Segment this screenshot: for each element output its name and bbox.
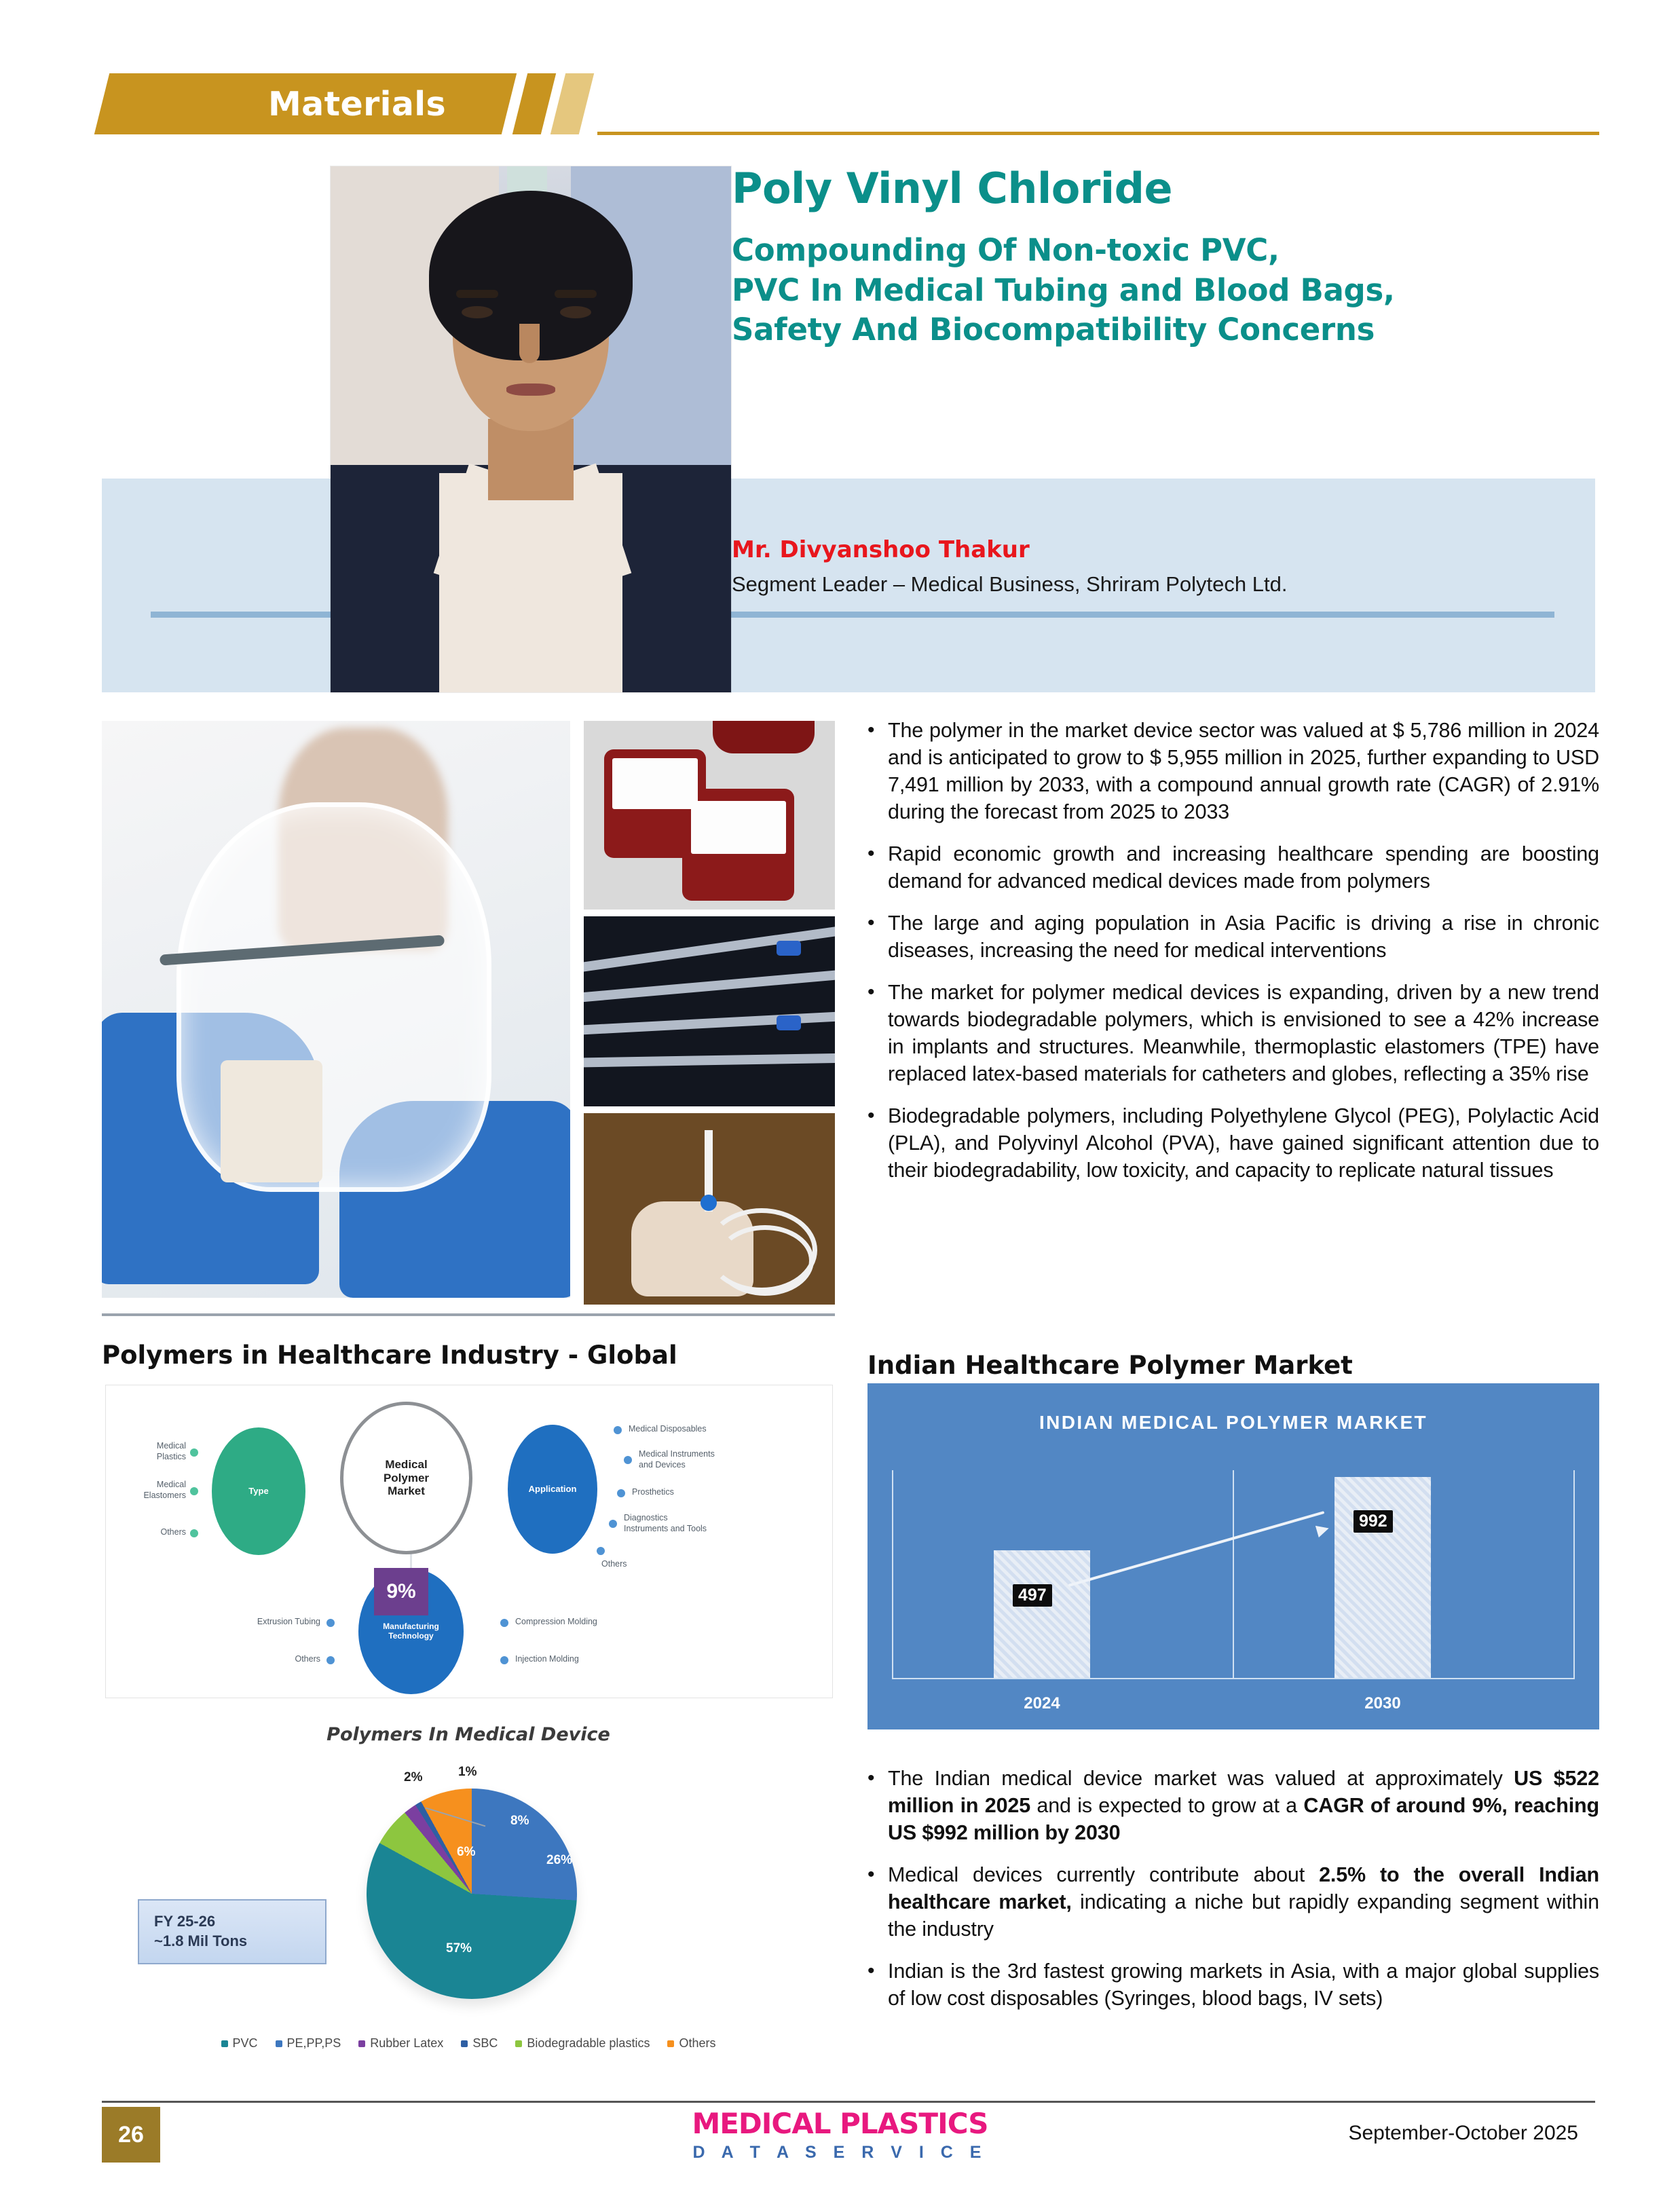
diagram-leaf-application-others: Others [601, 1559, 627, 1570]
pie-annotation-fy: FY 25-26 [154, 1912, 325, 1932]
bullet-text: The large and aging population in Asia P… [888, 910, 1599, 964]
legend-label-pe-pp-ps: PE,PP,PS [287, 2036, 341, 2051]
pie-slice-label-pe-pp-ps: 26% [546, 1853, 572, 1868]
legend-label-biodegradable-plastics: Biodegradable plastics [527, 2036, 650, 2051]
author-role: Segment Leader – Medical Business, Shrir… [732, 572, 1287, 597]
kicker-label: Materials [268, 85, 446, 124]
legend-item-pe-pp-ps: PE,PP,PS [276, 2036, 341, 2051]
header-rule [597, 132, 1599, 135]
bullet-dot-icon: • [867, 1102, 888, 1184]
iv-set-photo [584, 1113, 835, 1305]
diagram-leaf-prosthetics: Prosthetics [632, 1487, 674, 1498]
author-portrait-photo [331, 166, 731, 692]
photo-collage [102, 713, 835, 1303]
bullet-text: Rapid economic growth and increasing hea… [888, 840, 1599, 895]
bullet-text: The polymer in the market device sector … [888, 717, 1599, 825]
bullet-dot-icon: • [867, 840, 888, 895]
indian-medical-polymer-market-bar-chart: INDIAN MEDICAL POLYMER MARKET 497 992 20… [867, 1383, 1599, 1729]
bullet-text: The Indian medical device market was val… [888, 1765, 1599, 1846]
bar-category-2024: 2024 [994, 1694, 1090, 1713]
diagram-node-center: Medical Polymer Market [340, 1402, 472, 1554]
title-block: Poly Vinyl Chloride Compounding Of Non-t… [732, 166, 1607, 350]
bullet-dot-icon: • [867, 1861, 888, 1943]
list-item: • Medical devices currently contribute a… [867, 1861, 1599, 1943]
diagram-leaf-medical-instruments-and-devices: Medical Instruments and Devices [639, 1449, 715, 1470]
bar-value-2024: 497 [1013, 1584, 1052, 1607]
masthead-subtitle: D A T A S E R V I C E [0, 2143, 1680, 2163]
diagram-leaf-medical-plastics: Medical Plastics [125, 1441, 186, 1462]
bullet-text: Indian is the 3rd fastest growing market… [888, 1958, 1599, 2012]
oxygen-mask-photo [102, 721, 570, 1298]
diagram-leaf-diagnostics-instruments-and-tools: Diagnostics Instruments and Tools [624, 1513, 707, 1534]
legend-swatch-pvc [221, 2040, 228, 2047]
bar-axis-right [1573, 1470, 1575, 1678]
bullet-dot-icon: • [867, 979, 888, 1087]
diagram-leaf-injection-molding: Injection Molding [515, 1654, 579, 1665]
article-subtitle: Compounding Of Non-toxic PVC, PVC In Med… [732, 231, 1607, 350]
legend-label-sbc: SBC [472, 2036, 498, 2051]
legend-label-others: Others [679, 2036, 715, 2051]
medical-tubing-photo [584, 916, 835, 1106]
legend-item-biodegradable-plastics: Biodegradable plastics [515, 2036, 650, 2051]
footer-divider [102, 2101, 1595, 2103]
diagram-leaf-medical-disposables: Medical Disposables [629, 1424, 707, 1435]
diagram-leaf-type-others: Others [138, 1527, 186, 1538]
bullet-dot-icon: • [867, 910, 888, 964]
intro-bullet-list: • The polymer in the market device secto… [867, 717, 1599, 1199]
slash-decoration-1 [512, 73, 556, 134]
bar-axis-left [892, 1470, 893, 1678]
collage-divider [102, 1313, 835, 1316]
bar-category-2030: 2030 [1334, 1694, 1431, 1713]
diagram-node-application: Application [508, 1425, 597, 1554]
legend-swatch-sbc [461, 2040, 468, 2047]
author-name: Mr. Divyanshoo Thakur [732, 536, 1030, 563]
diagram-leaf-extrusion-tubing: Extrusion Tubing [213, 1617, 320, 1628]
pie-annotation-volume: ~1.8 Mil Tons [154, 1932, 325, 1951]
list-item: • Indian is the 3rd fastest growing mark… [867, 1958, 1599, 2012]
bar-value-2030: 992 [1354, 1510, 1393, 1533]
list-item: • The market for polymer medical devices… [867, 979, 1599, 1087]
legend-label-rubber-latex: Rubber Latex [370, 2036, 443, 2051]
bullet-text: The market for polymer medical devices i… [888, 979, 1599, 1087]
pie-chart-title: Polymers In Medical Device [105, 1724, 832, 1745]
pie-annotation-box: FY 25-26 ~1.8 Mil Tons [138, 1899, 326, 1964]
legend-swatch-pe-pp-ps [276, 2040, 282, 2047]
diagram-leaf-compression-molding: Compression Molding [515, 1617, 597, 1628]
pie-slice-label-pvc: 57% [446, 1941, 472, 1956]
bullet-text: Medical devices currently contribute abo… [888, 1861, 1599, 1943]
bullet-dot-icon: • [867, 717, 888, 825]
india-section-heading: Indian Healthcare Polymer Market [867, 1351, 1353, 1380]
bullet-text: Biodegradable polymers, including Polyet… [888, 1102, 1599, 1184]
diagram-node-type: Type [212, 1427, 305, 1555]
pie-slice-label-sbc: 1% [458, 1765, 477, 1780]
legend-item-pvc: PVC [221, 2036, 258, 2051]
legend-label-pvc: PVC [233, 2036, 258, 2051]
blood-bags-photo [584, 721, 835, 910]
global-section-heading: Polymers in Healthcare Industry - Global [102, 1341, 677, 1370]
bar-2030 [1334, 1477, 1431, 1678]
legend-swatch-others [667, 2040, 674, 2047]
pie-chart-graphic [367, 1789, 577, 1999]
cagr-badge: 9% [374, 1568, 428, 1615]
slash-decoration-2 [550, 73, 594, 134]
pie-slice-label-biodegradable: 6% [457, 1845, 475, 1860]
bullet-dot-icon: • [867, 1958, 888, 2012]
diagram-leaf-manufacturing-others: Others [267, 1654, 320, 1665]
list-item: • Rapid economic growth and increasing h… [867, 840, 1599, 895]
bar-chart-title: INDIAN MEDICAL POLYMER MARKET [867, 1412, 1599, 1434]
legend-swatch-rubber-latex [358, 2040, 365, 2047]
pie-slice-label-rubber-latex: 2% [404, 1770, 422, 1785]
legend-item-rubber-latex: Rubber Latex [358, 2036, 443, 2051]
list-item: • The polymer in the market device secto… [867, 717, 1599, 825]
pie-slice-label-others: 8% [510, 1814, 529, 1829]
bullet-dot-icon: • [867, 1765, 888, 1846]
issue-date: September-October 2025 [1348, 2122, 1578, 2145]
polymers-in-medical-device-pie-chart: 2% 1% 8% 6% 26% 57% FY 25-26 ~1.8 Mil To… [105, 1758, 832, 2050]
legend-item-sbc: SBC [461, 2036, 498, 2051]
list-item: • The Indian medical device market was v… [867, 1765, 1599, 1846]
materials-kicker: Materials [102, 73, 509, 134]
list-item: • The large and aging population in Asia… [867, 910, 1599, 964]
list-item: • Biodegradable polymers, including Poly… [867, 1102, 1599, 1184]
bar-axis-baseline [892, 1678, 1575, 1679]
legend-swatch-biodegradable-plastics [515, 2040, 522, 2047]
legend-item-others: Others [667, 2036, 715, 2051]
india-bullet-list: • The Indian medical device market was v… [867, 1765, 1599, 2027]
pie-chart-legend: PVC PE,PP,PS Rubber Latex SBC Biodegrada… [105, 2036, 832, 2051]
medical-polymer-market-diagram: Type Medical Polymer Market Application … [105, 1385, 833, 1698]
growth-arrow-icon [1068, 1526, 1326, 1598]
article-title: Poly Vinyl Chloride [732, 166, 1607, 210]
diagram-leaf-medical-elastomers: Medical Elastomers [118, 1480, 186, 1501]
